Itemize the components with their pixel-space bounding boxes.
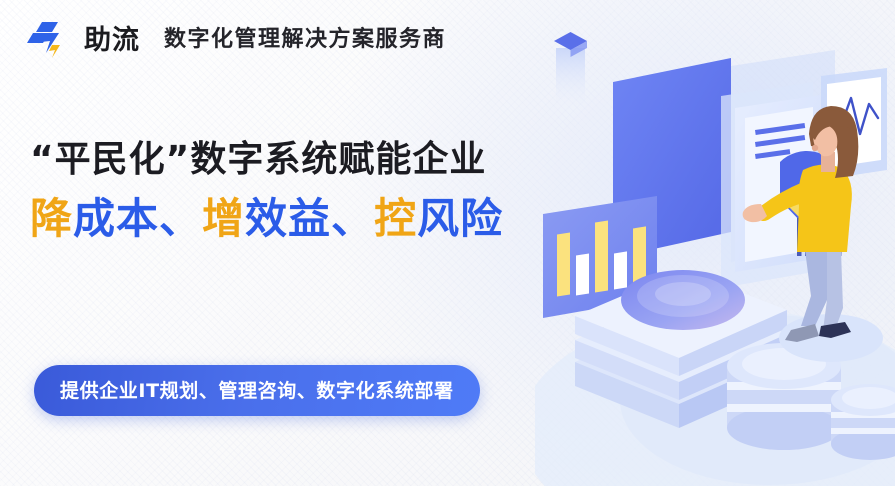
headline-part-xiaoyi: 效益、	[245, 194, 374, 243]
sign-bar	[557, 232, 570, 296]
sign-bar	[595, 220, 608, 292]
zhuliu-lightning-logo-icon	[26, 20, 70, 60]
cta-pill-button[interactable]: 提供企业IT规划、管理咨询、数字化系统部署	[34, 365, 480, 416]
headline-part-chengben: 成本、	[73, 194, 202, 243]
headline-secondary: 降成本、增效益、控风险	[30, 196, 503, 242]
brand-header: 助流 数字化管理解决方案服务商	[26, 20, 446, 60]
brand-tagline: 数字化管理解决方案服务商	[164, 29, 446, 51]
headline-part-kong: 控	[374, 194, 417, 243]
headline-part-jiang: 降	[30, 194, 73, 243]
database-small	[831, 384, 895, 460]
figure-ear	[812, 145, 818, 151]
hero-copy: “平民化”数字系统赋能企业 降成本、增效益、控风险	[30, 140, 503, 243]
isometric-data-dashboard-scene	[535, 0, 895, 486]
headline-part-fengxian: 风险	[417, 194, 503, 243]
headline-part-zeng: 增	[202, 194, 245, 243]
promo-banner: 助流 数字化管理解决方案服务商 “平民化”数字系统赋能企业 降成本、增效益、控风…	[0, 0, 895, 486]
headline-primary: “平民化”数字系统赋能企业	[30, 140, 503, 180]
figure-sweater	[797, 164, 852, 252]
brand-name: 助流	[84, 27, 140, 54]
sign-bar	[576, 253, 589, 295]
sign-bar	[614, 251, 627, 289]
floating-cube	[554, 32, 587, 106]
